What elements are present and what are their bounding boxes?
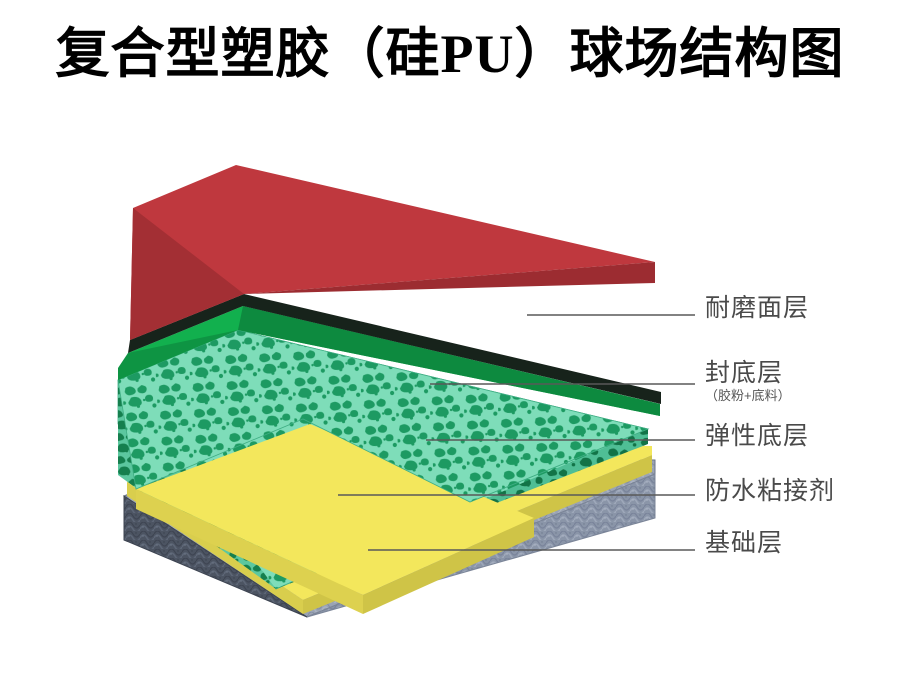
label-item-wear-surface: 耐磨面层: [705, 295, 900, 321]
label-seal-primer-sub: （胶粉+底料）: [705, 388, 900, 404]
label-elastic-base: 弹性底层: [705, 423, 900, 449]
label-seal-primer: 封底层: [705, 360, 900, 386]
label-item-elastic-base: 弹性底层: [705, 423, 900, 449]
label-waterproof-adhesive: 防水粘接剂: [705, 478, 900, 504]
label-item-waterproof-adhesive: 防水粘接剂: [705, 478, 900, 504]
label-item-foundation: 基础层: [705, 530, 900, 556]
label-item-seal-primer: 封底层 （胶粉+底料）: [705, 360, 900, 404]
layer-label-list: 耐磨面层 封底层 （胶粉+底料） 弹性底层 防水粘接剂 基础层: [705, 0, 900, 675]
label-wear-surface: 耐磨面层: [705, 295, 900, 321]
label-foundation: 基础层: [705, 530, 900, 556]
page-root: 复合型塑胶（硅PU）球场结构图: [0, 0, 900, 675]
